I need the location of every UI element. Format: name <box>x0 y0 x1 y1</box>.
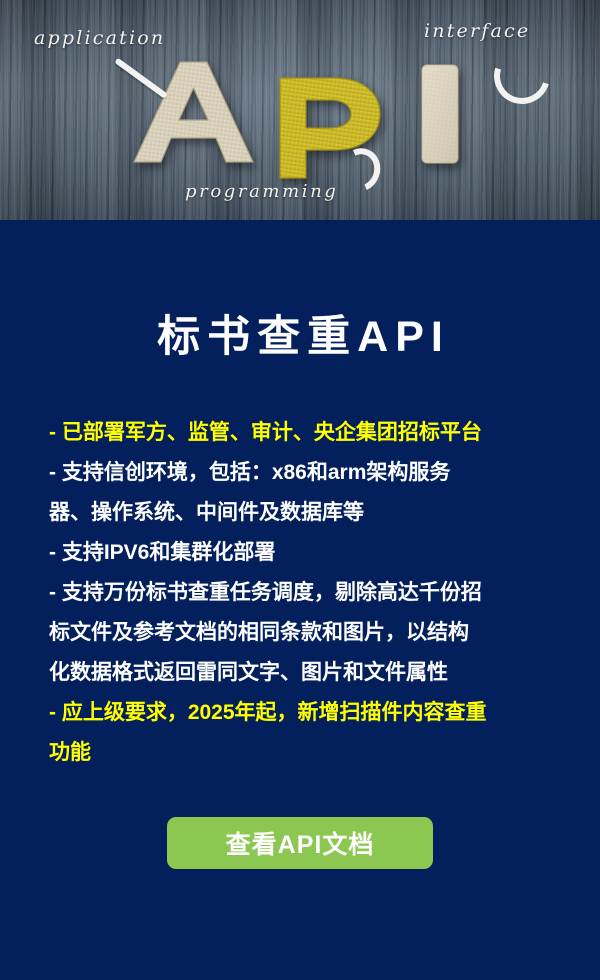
content-panel: 标书查重API - 已部署军方、监管、审计、央企集团招标平台 - 支持信创环境，… <box>0 249 600 879</box>
hero-banner: application interface programming <box>0 0 600 220</box>
feature-line: - 支持万份标书查重任务调度，剔除高达千份招 <box>49 573 554 613</box>
wooden-letter-a-icon <box>131 58 256 173</box>
annotation-application: application <box>34 27 165 49</box>
cta-container: 查看API文档 <box>0 817 600 869</box>
annotation-programming: programming <box>185 181 338 202</box>
annotation-interface: interface <box>424 20 530 42</box>
feature-list: - 已部署军方、监管、审计、央企集团招标平台 - 支持信创环境，包括：x86和a… <box>0 413 600 773</box>
feature-line: 功能 <box>49 733 554 773</box>
feature-line: - 支持信创环境，包括：x86和arm架构服务 <box>49 453 554 493</box>
promo-page: application interface programming 标书查重AP… <box>0 0 600 980</box>
feature-line: - 应上级要求，2025年起，新增扫描件内容查重 <box>49 693 554 733</box>
view-api-docs-button[interactable]: 查看API文档 <box>167 817 433 869</box>
feature-line: 化数据格式返回雷同文字、图片和文件属性 <box>49 653 554 693</box>
feature-line: - 已部署军方、监管、审计、央企集团招标平台 <box>49 413 554 453</box>
page-title: 标书查重API <box>0 249 600 361</box>
feature-line: - 支持IPV6和集群化部署 <box>49 533 554 573</box>
feature-line: 器、操作系统、中间件及数据库等 <box>49 493 554 533</box>
feature-line: 标文件及参考文档的相同条款和图片，以结构 <box>49 613 554 653</box>
wooden-letter-i-icon <box>419 62 461 171</box>
